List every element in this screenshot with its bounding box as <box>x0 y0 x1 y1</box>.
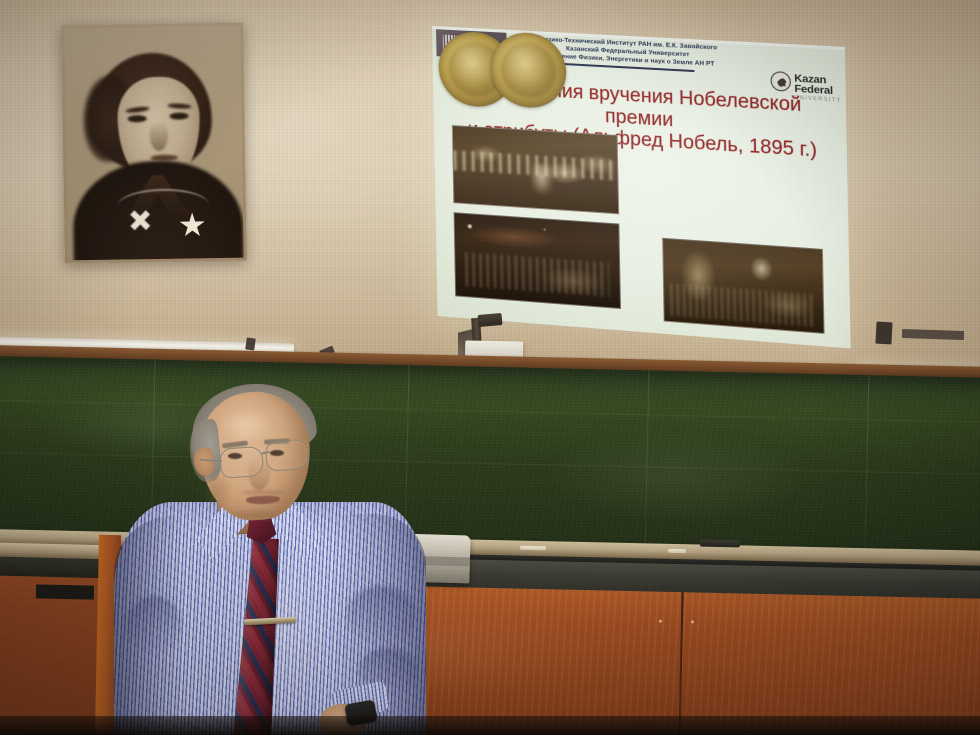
photograph-scene: КФТИ Физико-Технический Институт РАН им.… <box>0 0 980 735</box>
sleeve-fold-1 <box>346 586 416 646</box>
eyeglass-temple <box>200 459 222 462</box>
desk-screw-2 <box>691 620 694 623</box>
speaker <box>96 386 426 735</box>
desk-screw-1 <box>659 620 662 623</box>
foreground-shadow-bar <box>0 716 980 735</box>
kazan-crest-icon <box>771 71 792 92</box>
sleeve-fold-3 <box>126 596 182 656</box>
chalk-piece-2 <box>668 549 686 553</box>
chin-shadow <box>224 508 288 522</box>
rail-eraser <box>700 540 740 548</box>
projector-head <box>478 313 503 327</box>
projected-slide: КФТИ Физико-Технический Институт РАН им.… <box>432 26 851 348</box>
photo-nobel-ceremony-hall <box>452 125 619 214</box>
portrait-canvas <box>64 26 244 261</box>
slide-surface: КФТИ Физико-Технический Институт РАН им.… <box>432 26 851 348</box>
photo-dark-auditorium <box>454 212 621 309</box>
forehead-highlight <box>218 408 274 442</box>
wall-portrait-lobachevsky <box>61 23 247 264</box>
photo-ceremony-crowd <box>662 238 824 334</box>
chalk-piece-1 <box>520 546 546 551</box>
eyeglass-lens-left <box>219 446 264 479</box>
podium-left-notch <box>36 584 94 599</box>
light-bracket-left <box>245 337 256 350</box>
ceiling-bracket-far-right <box>875 322 892 345</box>
upper-lip-shadow <box>242 490 284 495</box>
eyeglass-lens-right <box>265 439 310 472</box>
portrait-nose <box>150 121 168 151</box>
